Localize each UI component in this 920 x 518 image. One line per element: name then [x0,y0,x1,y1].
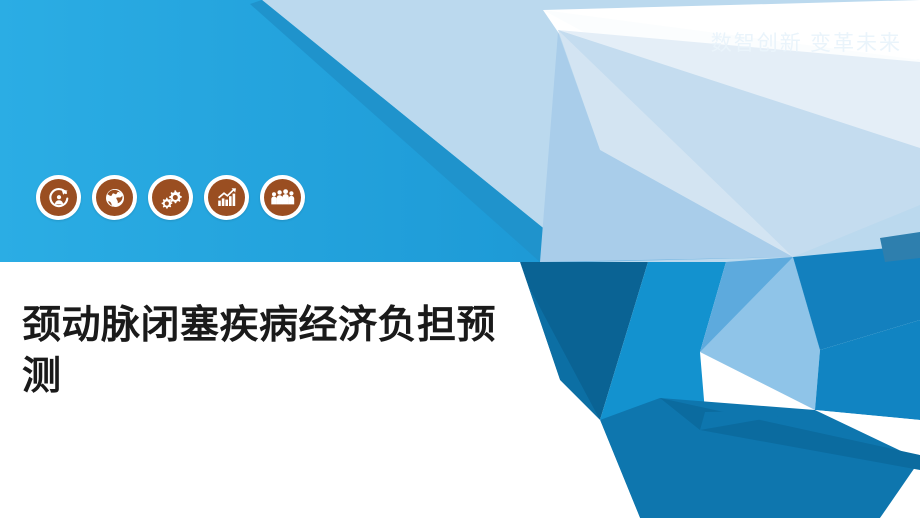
page-title: 颈动脉闭塞疾病经济负担预测 [22,300,522,403]
title-slide: 数智创新 变革未来 [0,0,920,518]
bar-chart-growth-icon[interactable] [204,175,249,220]
people-group-icon[interactable] [260,175,305,220]
low-poly-geometric-graphic [0,0,920,518]
icon-row [36,175,305,220]
globe-icon[interactable] [92,175,137,220]
gears-icon[interactable] [148,175,193,220]
slide-tagline: 数智创新 变革未来 [711,27,902,57]
refresh-person-icon[interactable] [36,175,81,220]
